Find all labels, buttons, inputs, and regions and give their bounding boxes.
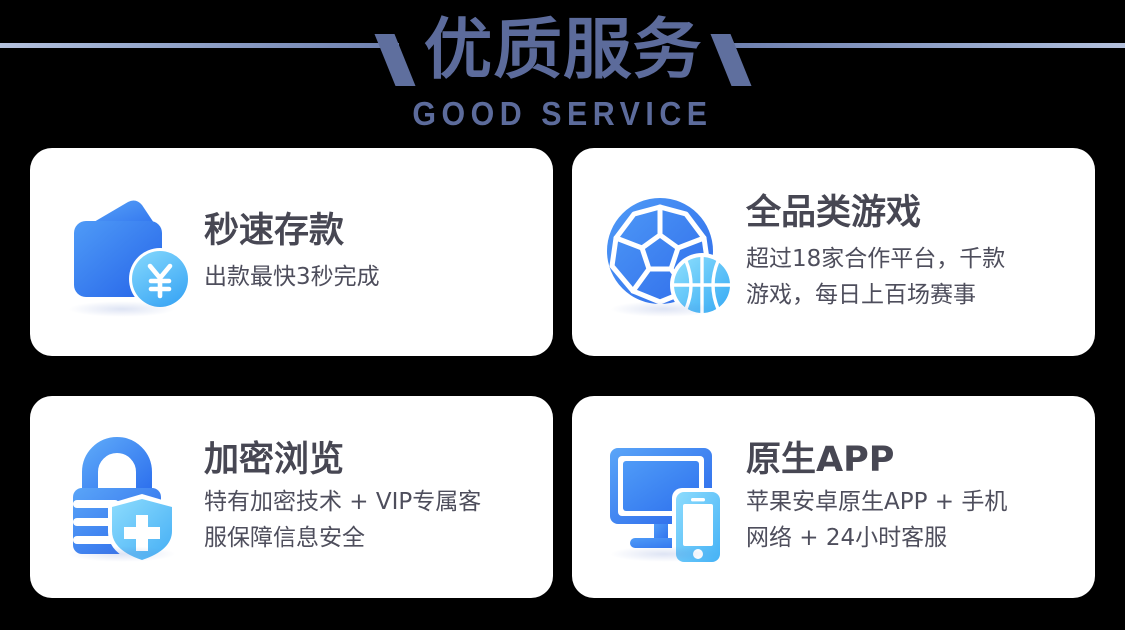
card-desc-line: 超过18家合作平台，千款 bbox=[746, 241, 1089, 277]
card-description: 特有加密技术 + VIP专属客 服保障信息安全 bbox=[204, 484, 547, 556]
card-description: 超过18家合作平台，千款 游戏，每日上百场赛事 bbox=[746, 241, 1089, 313]
decorative-rule-left bbox=[0, 43, 399, 48]
service-card-deposit[interactable]: 秒速存款 出款最快3秒完成 bbox=[30, 148, 553, 356]
soccer-basketball-icon bbox=[598, 181, 740, 323]
card-desc-line: 服保障信息安全 bbox=[204, 520, 547, 556]
card-description: 出款最快3秒完成 bbox=[204, 259, 547, 295]
page-title-en: GOOD SERVICE bbox=[45, 96, 1080, 132]
card-text: 原生APP 苹果安卓原生APP + 手机 网络 + 24小时客服 bbox=[740, 438, 1089, 556]
card-text: 秒速存款 出款最快3秒完成 bbox=[198, 209, 547, 295]
card-desc-line: 游戏，每日上百场赛事 bbox=[746, 277, 1089, 313]
card-title: 加密浏览 bbox=[204, 438, 547, 482]
page-header: 优质服务 GOOD SERVICE bbox=[0, 0, 1125, 148]
monitor-phone-icon bbox=[598, 426, 740, 568]
card-title: 原生APP bbox=[746, 438, 1089, 482]
page-title-cn: 优质服务 bbox=[423, 11, 702, 89]
card-title: 全品类游戏 bbox=[746, 191, 1089, 235]
card-text: 加密浏览 特有加密技术 + VIP专属客 服保障信息安全 bbox=[198, 438, 547, 556]
card-desc-line: 出款最快3秒完成 bbox=[204, 259, 547, 295]
icon-shadow bbox=[610, 546, 718, 562]
icon-shadow bbox=[610, 301, 718, 317]
decorative-rule-right bbox=[727, 43, 1125, 48]
card-text: 全品类游戏 超过18家合作平台，千款 游戏，每日上百场赛事 bbox=[740, 191, 1089, 313]
card-description: 苹果安卓原生APP + 手机 网络 + 24小时客服 bbox=[746, 484, 1089, 556]
card-desc-line: 网络 + 24小时客服 bbox=[746, 520, 1089, 556]
service-card-grid: 秒速存款 出款最快3秒完成 bbox=[30, 148, 1095, 598]
service-card-encryption[interactable]: 加密浏览 特有加密技术 + VIP专属客 服保障信息安全 bbox=[30, 396, 553, 598]
service-card-native-app[interactable]: 原生APP 苹果安卓原生APP + 手机 网络 + 24小时客服 bbox=[572, 396, 1095, 598]
title-banner: 优质服务 bbox=[0, 0, 1125, 100]
icon-shadow bbox=[68, 301, 176, 317]
card-desc-line: 特有加密技术 + VIP专属客 bbox=[204, 484, 547, 520]
icon-shadow bbox=[68, 546, 176, 562]
card-title: 秒速存款 bbox=[204, 209, 547, 253]
service-card-games[interactable]: 全品类游戏 超过18家合作平台，千款 游戏，每日上百场赛事 bbox=[572, 148, 1095, 356]
card-desc-line: 苹果安卓原生APP + 手机 bbox=[746, 484, 1089, 520]
wallet-yen-icon bbox=[56, 181, 198, 323]
title-block: 优质服务 bbox=[399, 11, 727, 89]
lock-shield-icon bbox=[56, 426, 198, 568]
